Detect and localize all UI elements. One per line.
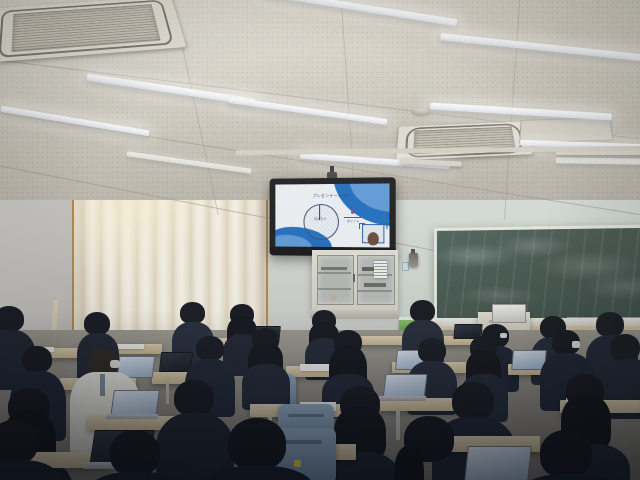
head xyxy=(0,420,38,464)
slide-title: プレゼンテーション xyxy=(275,193,389,200)
ceiling-ac-cassette-right xyxy=(396,121,533,160)
head xyxy=(174,380,214,416)
wall-notice-poster xyxy=(374,260,387,278)
blackboard[interactable] xyxy=(437,228,640,323)
desk-leg xyxy=(396,410,400,440)
smoke-detector xyxy=(412,108,430,115)
face-mask xyxy=(110,360,120,368)
inset-bracket-icon xyxy=(359,223,365,229)
head xyxy=(228,418,286,470)
chalk-streaks xyxy=(437,228,640,323)
head xyxy=(84,312,110,335)
cabinet-handle[interactable] xyxy=(353,274,355,282)
head xyxy=(196,336,224,361)
desk-leg xyxy=(166,382,169,404)
wall-speaker xyxy=(409,253,418,267)
head xyxy=(452,382,494,420)
monitor-screen[interactable]: プレゼンテーション 円グラフ ポイント xyxy=(275,183,389,247)
laptop-screen[interactable] xyxy=(464,446,532,480)
head xyxy=(0,306,24,332)
slide-point-marker xyxy=(351,211,354,214)
slide-circle-diagram xyxy=(303,204,339,240)
cabinet-shelf xyxy=(318,272,351,274)
laptop-keyboard[interactable] xyxy=(378,396,427,401)
presenter-head xyxy=(368,233,379,246)
cabinet-shelf xyxy=(358,290,392,292)
head xyxy=(418,338,446,363)
slide-marker-line xyxy=(344,217,361,218)
head xyxy=(110,430,160,476)
head xyxy=(22,346,52,373)
cabinet-shelf xyxy=(318,288,351,290)
slide-circle-caption: 円グラフ xyxy=(303,217,337,221)
face-mask xyxy=(500,333,507,338)
head xyxy=(540,430,592,478)
head xyxy=(610,334,640,361)
cabinet-stored-item xyxy=(364,283,386,287)
face-mask xyxy=(572,341,580,348)
head xyxy=(410,300,435,322)
wall-monitor[interactable]: プレゼンテーション 円グラフ ポイント xyxy=(270,177,396,256)
head xyxy=(180,302,205,324)
cabinet-stored-item xyxy=(330,295,337,301)
laptop-keyboard[interactable] xyxy=(106,414,159,419)
head xyxy=(596,312,624,337)
chair-tag xyxy=(294,460,301,467)
podium-laptop[interactable] xyxy=(492,304,526,323)
paper-sheet xyxy=(300,364,330,371)
lanyard xyxy=(100,374,105,396)
chair-slot xyxy=(288,414,324,417)
wall-switch-plate[interactable] xyxy=(402,262,409,271)
cabinet-stored-item xyxy=(321,267,347,270)
paper-sheet xyxy=(118,344,144,349)
classroom-photo: プレゼンテーション 円グラフ ポイント xyxy=(0,0,640,480)
inset-bracket-icon xyxy=(381,223,387,229)
